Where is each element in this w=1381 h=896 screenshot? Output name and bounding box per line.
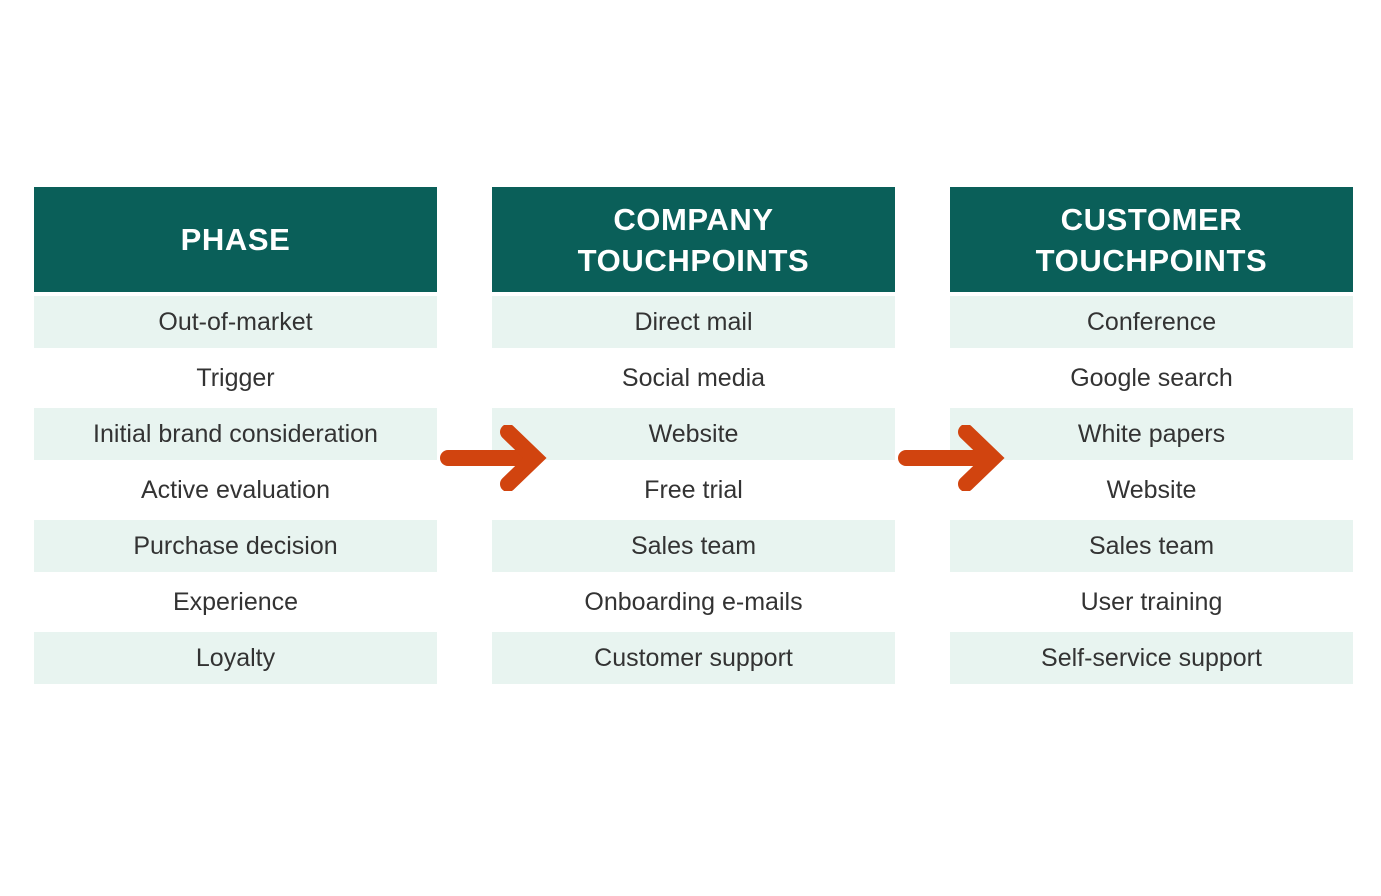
list-item: Experience <box>34 576 437 628</box>
column-2: CUSTOMER TOUCHPOINTSConferenceGoogle sea… <box>950 187 1353 684</box>
column-header-label: PHASE <box>181 219 291 260</box>
arrow-phase-to-company <box>440 425 548 491</box>
list-item: Out-of-market <box>34 296 437 348</box>
column-0: PHASEOut-of-marketTriggerInitial brand c… <box>34 187 437 684</box>
list-item: Self-service support <box>950 632 1353 684</box>
list-item: Sales team <box>492 520 895 572</box>
column-header-0: PHASE <box>34 187 437 292</box>
list-item: Sales team <box>950 520 1353 572</box>
list-item: Onboarding e-mails <box>492 576 895 628</box>
list-item: Initial brand consideration <box>34 408 437 460</box>
column-header-label: CUSTOMER TOUCHPOINTS <box>1036 199 1268 281</box>
list-item: Direct mail <box>492 296 895 348</box>
column-header-label: COMPANY TOUCHPOINTS <box>578 199 810 281</box>
arrow-right-icon <box>898 425 1006 491</box>
list-item: Social media <box>492 352 895 404</box>
list-item: Google search <box>950 352 1353 404</box>
column-1: COMPANY TOUCHPOINTSDirect mailSocial med… <box>492 187 895 684</box>
journey-touchpoints-diagram: PHASEOut-of-marketTriggerInitial brand c… <box>0 0 1381 896</box>
list-item: Active evaluation <box>34 464 437 516</box>
column-rows-2: ConferenceGoogle searchWhite papersWebsi… <box>950 296 1353 684</box>
list-item: Purchase decision <box>34 520 437 572</box>
list-item: Website <box>492 408 895 460</box>
list-item: User training <box>950 576 1353 628</box>
list-item: Customer support <box>492 632 895 684</box>
column-header-1: COMPANY TOUCHPOINTS <box>492 187 895 292</box>
arrow-right-icon <box>440 425 548 491</box>
column-rows-1: Direct mailSocial mediaWebsiteFree trial… <box>492 296 895 684</box>
arrow-company-to-customer <box>898 425 1006 491</box>
list-item: White papers <box>950 408 1353 460</box>
column-rows-0: Out-of-marketTriggerInitial brand consid… <box>34 296 437 684</box>
list-item: Free trial <box>492 464 895 516</box>
list-item: Loyalty <box>34 632 437 684</box>
list-item: Conference <box>950 296 1353 348</box>
list-item: Trigger <box>34 352 437 404</box>
column-header-2: CUSTOMER TOUCHPOINTS <box>950 187 1353 292</box>
list-item: Website <box>950 464 1353 516</box>
